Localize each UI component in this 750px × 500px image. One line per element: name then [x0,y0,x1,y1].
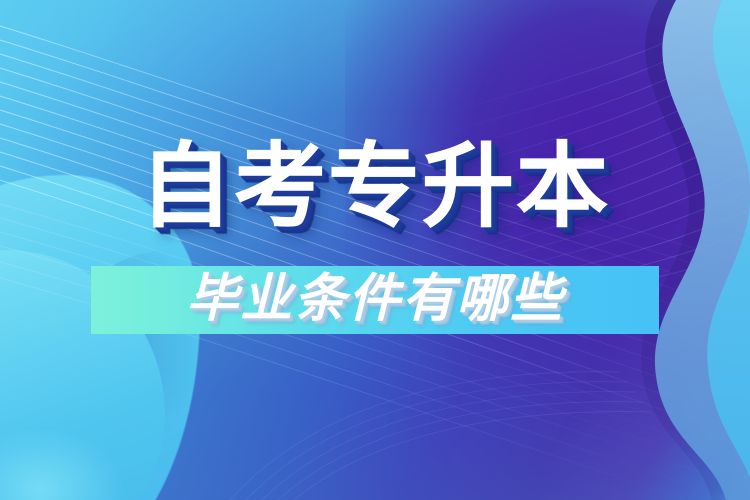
subtitle-text: 毕业条件有哪些 [186,273,564,325]
banner-image: 自考专升本 毕业条件有哪些 [0,0,750,500]
page-title: 自考专升本 [0,141,750,233]
subtitle-ribbon: 毕业条件有哪些 [91,266,659,334]
decorative-wave-ribbons-right [580,0,750,500]
